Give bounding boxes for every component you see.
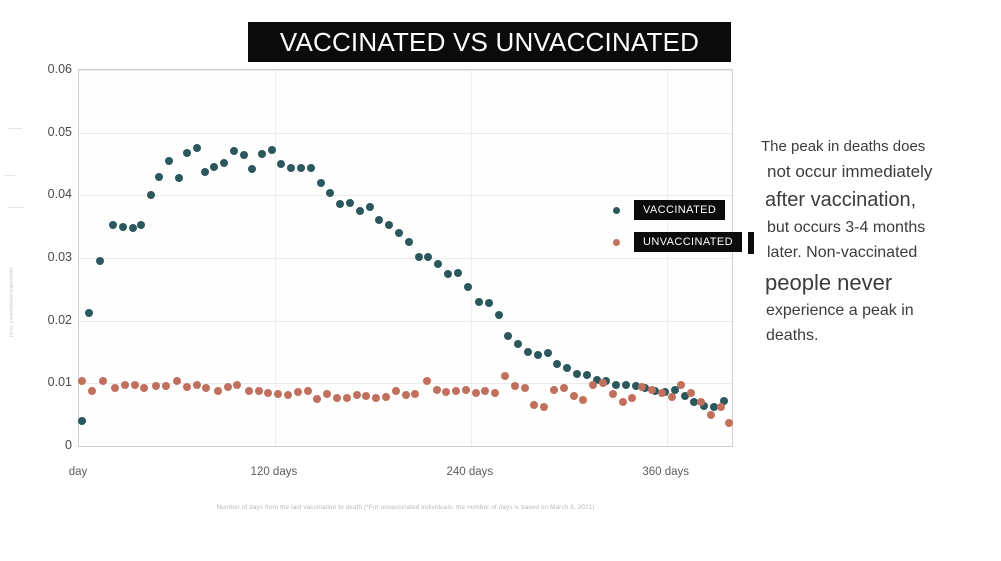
data-point-vax — [220, 159, 228, 167]
data-point-unvax — [392, 387, 400, 395]
data-point-vax — [375, 216, 383, 224]
data-point-unvax — [462, 386, 470, 394]
data-point-vax — [336, 200, 344, 208]
legend-item-unvaccinated[interactable]: UNVACCINATED — [613, 232, 742, 252]
data-point-vax — [96, 257, 104, 265]
data-point-unvax — [550, 386, 558, 394]
x-axis-caption: Number of days from the last vaccination… — [78, 504, 733, 511]
data-point-unvax — [284, 391, 292, 399]
data-point-vax — [395, 229, 403, 237]
data-point-unvax — [570, 392, 578, 400]
data-point-unvax — [658, 389, 666, 397]
data-point-unvax — [648, 386, 656, 394]
data-point-vax — [78, 417, 86, 425]
gridline-vertical — [471, 70, 472, 446]
data-point-vax — [210, 163, 218, 171]
data-point-vax — [165, 157, 173, 165]
data-point-vax — [563, 364, 571, 372]
x-axis-ticks: day120 days240 days360 days — [78, 466, 733, 484]
data-point-vax — [109, 221, 117, 229]
decorative-mark — [5, 175, 15, 176]
data-point-vax — [454, 269, 462, 277]
annotation-line: after vaccination, — [765, 189, 999, 212]
data-point-unvax — [333, 394, 341, 402]
data-point-unvax — [162, 382, 170, 390]
data-point-vax — [366, 203, 374, 211]
data-point-unvax — [304, 387, 312, 395]
data-point-unvax — [599, 379, 607, 387]
data-point-unvax — [382, 393, 390, 401]
data-point-unvax — [687, 389, 695, 397]
data-point-unvax — [323, 390, 331, 398]
data-point-unvax — [402, 391, 410, 399]
data-point-vax — [119, 223, 127, 231]
data-point-unvax — [193, 381, 201, 389]
y-axis-tick-label: 0.04 — [24, 187, 72, 201]
data-point-unvax — [560, 384, 568, 392]
data-point-vax — [524, 348, 532, 356]
data-point-unvax — [540, 403, 548, 411]
data-point-vax — [147, 191, 155, 199]
legend-item-vaccinated[interactable]: VACCINATED — [613, 200, 742, 220]
legend-label: VACCINATED — [634, 200, 725, 220]
data-point-unvax — [152, 382, 160, 390]
annotation-accent-bar — [748, 232, 754, 254]
data-point-vax — [137, 221, 145, 229]
y-axis-tick-label: 0.03 — [24, 250, 72, 264]
data-point-vax — [475, 298, 483, 306]
data-point-vax — [317, 179, 325, 187]
data-point-unvax — [677, 381, 685, 389]
data-point-vax — [573, 370, 581, 378]
data-point-unvax — [372, 394, 380, 402]
data-point-vax — [85, 309, 93, 317]
data-point-vax — [287, 164, 295, 172]
legend-label: UNVACCINATED — [634, 232, 742, 252]
y-axis-tick-label: 0.06 — [24, 62, 72, 76]
data-point-vax — [307, 164, 315, 172]
annotation-line: not occur immediately — [767, 162, 999, 182]
slide-canvas: VACCINATED VS UNVACCINATED 0.060.050.040… — [0, 0, 1001, 561]
y-axis-label: [total, unvaccinated (expected)] — [9, 248, 14, 358]
data-point-unvax — [343, 394, 351, 402]
y-axis-tick-label: 0.02 — [24, 313, 72, 327]
data-point-unvax — [511, 382, 519, 390]
data-point-vax — [612, 381, 620, 389]
data-point-unvax — [589, 381, 597, 389]
annotation-line: people never — [765, 270, 999, 295]
annotation-line: but occurs 3-4 months — [767, 219, 999, 237]
data-point-vax — [534, 351, 542, 359]
data-point-vax — [155, 173, 163, 181]
data-point-vax — [175, 174, 183, 182]
annotation-line: experience a peak in — [766, 302, 999, 320]
data-point-vax — [464, 283, 472, 291]
x-axis-tick-label: 120 days — [251, 466, 298, 478]
data-point-vax — [183, 149, 191, 157]
data-point-unvax — [313, 395, 321, 403]
data-point-vax — [622, 381, 630, 389]
y-axis-tick-label: 0.05 — [24, 125, 72, 139]
data-point-unvax — [707, 411, 715, 419]
data-point-unvax — [202, 384, 210, 392]
data-point-unvax — [224, 383, 232, 391]
data-point-unvax — [530, 401, 538, 409]
data-point-unvax — [255, 387, 263, 395]
data-point-unvax — [442, 388, 450, 396]
data-point-vax — [553, 360, 561, 368]
data-point-vax — [346, 199, 354, 207]
data-point-unvax — [274, 390, 282, 398]
data-point-unvax — [433, 386, 441, 394]
annotation-line: deaths. — [766, 327, 999, 345]
data-point-vax — [297, 164, 305, 172]
data-point-unvax — [521, 384, 529, 392]
x-axis-tick-label: 240 days — [446, 466, 493, 478]
data-point-vax — [258, 150, 266, 158]
data-point-unvax — [411, 390, 419, 398]
y-axis-ticks: 0.060.050.040.030.020.010 — [20, 69, 72, 447]
data-point-unvax — [353, 391, 361, 399]
data-point-unvax — [452, 387, 460, 395]
data-point-unvax — [481, 387, 489, 395]
data-point-unvax — [245, 387, 253, 395]
data-point-vax — [385, 221, 393, 229]
data-point-unvax — [668, 393, 676, 401]
data-point-vax — [230, 147, 238, 155]
data-point-unvax — [579, 396, 587, 404]
data-point-unvax — [88, 387, 96, 395]
data-point-unvax — [628, 394, 636, 402]
chart-legend: VACCINATEDUNVACCINATED — [613, 200, 742, 264]
data-point-vax — [248, 165, 256, 173]
data-point-vax — [495, 311, 503, 319]
data-point-unvax — [183, 383, 191, 391]
data-point-vax — [405, 238, 413, 246]
annotation-text-block: The peak in deaths doesnot occur immedia… — [761, 138, 999, 353]
annotation-line: The peak in deaths does — [761, 138, 999, 155]
data-point-vax — [268, 146, 276, 154]
gridline-horizontal — [79, 321, 732, 322]
data-point-vax — [129, 224, 137, 232]
gridline-horizontal — [79, 70, 732, 71]
x-axis-tick-label: day — [69, 466, 88, 478]
data-point-unvax — [264, 389, 272, 397]
data-point-unvax — [472, 389, 480, 397]
x-axis-tick-label: 360 days — [642, 466, 689, 478]
annotation-line: later. Non-vaccinated — [767, 244, 999, 262]
data-point-vax — [415, 253, 423, 261]
data-point-vax — [201, 168, 209, 176]
data-point-unvax — [609, 390, 617, 398]
data-point-vax — [485, 299, 493, 307]
gridline-horizontal — [79, 195, 732, 196]
data-point-unvax — [294, 388, 302, 396]
data-point-vax — [240, 151, 248, 159]
data-point-unvax — [111, 384, 119, 392]
legend-marker-icon — [613, 207, 620, 214]
data-point-unvax — [501, 372, 509, 380]
legend-marker-icon — [613, 239, 620, 246]
data-point-unvax — [362, 392, 370, 400]
data-point-vax — [277, 160, 285, 168]
data-point-vax — [424, 253, 432, 261]
data-point-unvax — [619, 398, 627, 406]
data-point-vax — [444, 270, 452, 278]
data-point-vax — [514, 340, 522, 348]
data-point-vax — [583, 371, 591, 379]
data-point-unvax — [214, 387, 222, 395]
data-point-unvax — [140, 384, 148, 392]
data-point-unvax — [233, 381, 241, 389]
data-point-vax — [504, 332, 512, 340]
data-point-vax — [434, 260, 442, 268]
data-point-unvax — [491, 389, 499, 397]
data-point-vax — [356, 207, 364, 215]
data-point-vax — [544, 349, 552, 357]
gridline-horizontal — [79, 133, 732, 134]
data-point-unvax — [121, 381, 129, 389]
chart-title-banner: VACCINATED VS UNVACCINATED — [248, 22, 731, 62]
y-axis-tick-label: 0 — [24, 438, 72, 452]
data-point-unvax — [131, 381, 139, 389]
data-point-vax — [193, 144, 201, 152]
page-title: VACCINATED VS UNVACCINATED — [280, 27, 699, 58]
y-axis-tick-label: 0.01 — [24, 375, 72, 389]
data-point-unvax — [725, 419, 733, 427]
data-point-unvax — [717, 403, 725, 411]
